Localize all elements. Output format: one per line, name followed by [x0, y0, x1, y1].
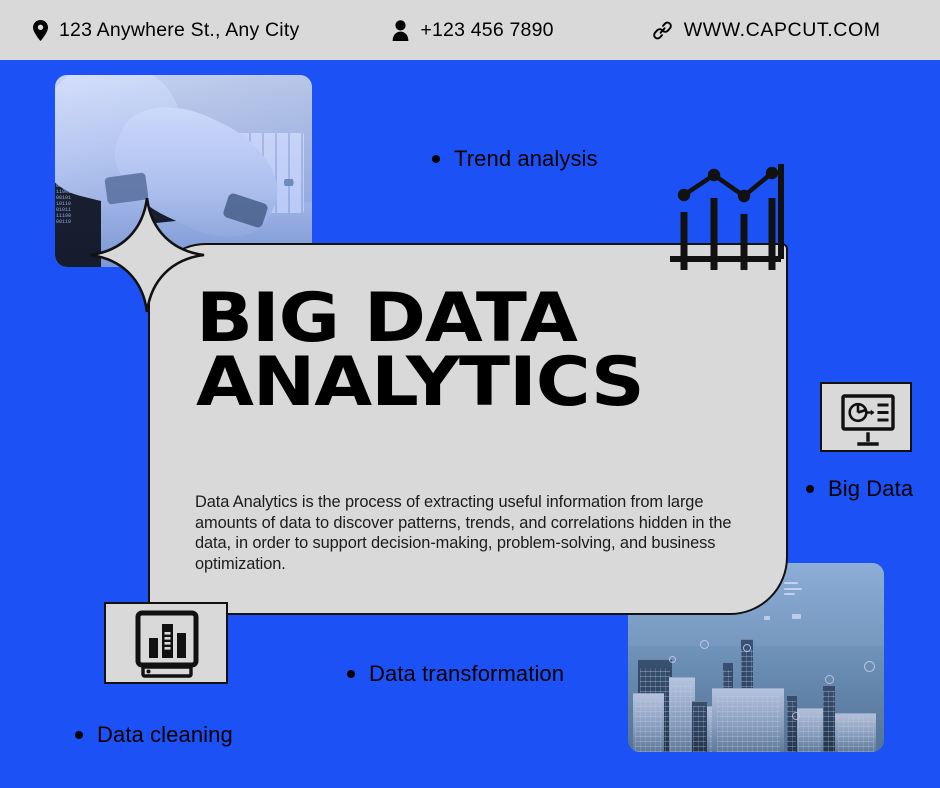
- page-title-line-1: BIG DATA: [196, 287, 812, 351]
- hero-description: Data Analytics is the process of extract…: [195, 492, 751, 574]
- bullet-dot-icon: [347, 670, 355, 678]
- four-point-star-icon: [88, 196, 206, 314]
- contact-address: 123 Anywhere St., Any City: [33, 19, 299, 42]
- bullet-label: Data transformation: [369, 661, 564, 687]
- bullet-data-transformation: Data transformation: [347, 661, 564, 687]
- map-pin-icon: [33, 20, 48, 41]
- contact-website-text: WWW.CAPCUT.COM: [684, 19, 881, 42]
- bullet-dot-icon: [432, 155, 440, 163]
- bar-line-chart-icon: [664, 158, 794, 286]
- bullet-trend-analysis: Trend analysis: [432, 146, 598, 172]
- tablet-bar-chart-icon: [106, 604, 230, 686]
- device-icon-box: [104, 602, 228, 684]
- contact-phone-text: +123 456 7890: [420, 19, 553, 42]
- bullet-big-data: Big Data: [806, 476, 913, 502]
- bullet-data-cleaning: Data cleaning: [75, 722, 233, 748]
- bullet-label: Data cleaning: [97, 722, 233, 748]
- bullet-dot-icon: [75, 731, 83, 739]
- monitor-icon-box: [820, 382, 912, 452]
- page-title-line-2: ANALYTICS: [196, 351, 812, 415]
- link-icon: [652, 20, 673, 41]
- bullet-dot-icon: [806, 485, 814, 493]
- page-title: BIG DATA ANALYTICS: [196, 287, 812, 415]
- contact-phone: +123 456 7890: [392, 19, 553, 42]
- hero-card: BIG DATA ANALYTICS Data Analytics is the…: [148, 243, 788, 615]
- contact-address-text: 123 Anywhere St., Any City: [59, 19, 299, 42]
- contact-bar: 123 Anywhere St., Any City +123 456 7890…: [0, 0, 940, 60]
- bullet-label: Big Data: [828, 476, 913, 502]
- person-icon: [392, 20, 409, 41]
- bullet-label: Trend analysis: [454, 146, 598, 172]
- contact-website: WWW.CAPCUT.COM: [652, 19, 881, 42]
- monitor-pie-chart-icon: [822, 384, 914, 454]
